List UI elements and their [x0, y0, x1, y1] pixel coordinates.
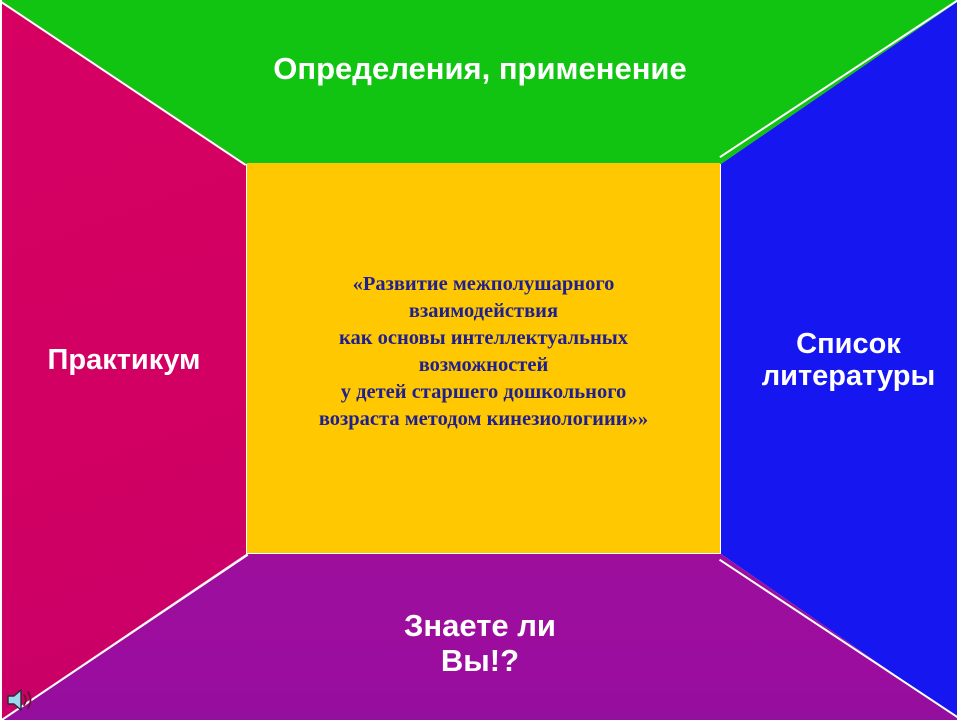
slide-title-line4: возможностей — [253, 352, 714, 379]
nav-panel-practicum-label: Практикум — [48, 344, 201, 376]
speaker-icon[interactable] — [6, 686, 36, 714]
slide-title-line1: «Развитие межполушарного — [253, 271, 714, 298]
slide-title: «Развитие межполушарного взаимодействия … — [247, 271, 720, 433]
nav-panel-did-you-know-line2: Вы!? — [404, 644, 556, 679]
nav-panel-did-you-know-text: Знаете ли Вы!? — [404, 609, 556, 678]
center-title-panel: «Развитие межполушарного взаимодействия … — [247, 163, 720, 553]
nav-panel-references-line1: Список — [762, 328, 936, 360]
slide-title-line3: как основы интеллектуальных — [253, 325, 714, 352]
slide-title-line6: возраста методом кинезиологиии»» — [253, 406, 714, 433]
nav-panel-references-text: Список литературы — [762, 328, 936, 393]
nav-panel-references-line2: литературы — [762, 360, 936, 392]
presentation-slide: Определения, применение Практикум Список… — [0, 0, 960, 720]
slide-title-line5: у детей старшего дошкольного — [253, 379, 714, 406]
nav-panel-definitions-label: Определения, применение — [273, 52, 686, 87]
slide-title-line2: взаимодействия — [253, 298, 714, 325]
nav-panel-did-you-know-line1: Знаете ли — [404, 609, 556, 644]
